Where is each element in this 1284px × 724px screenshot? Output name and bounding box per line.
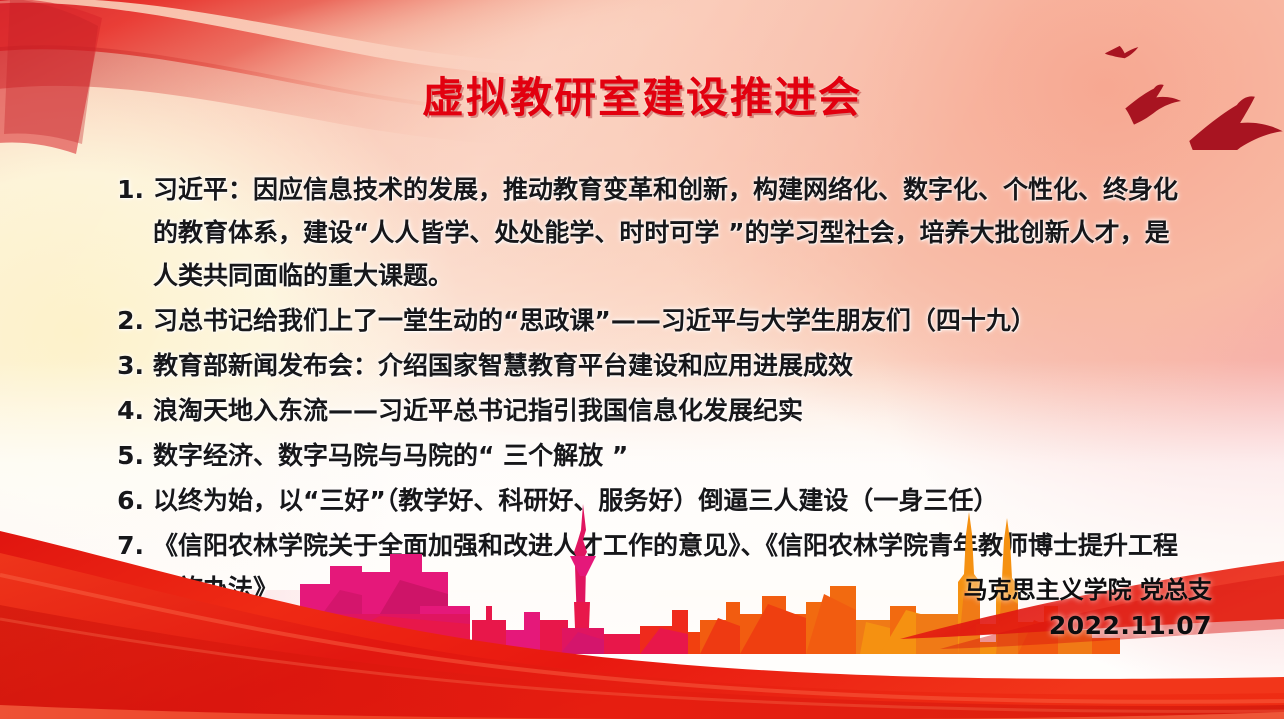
list-item-text: 浪淘天地入东流——习近平总书记指引我国信息化发展纪实: [153, 389, 1194, 432]
list-item-number: 1.: [104, 168, 153, 211]
list-item-text: 习总书记给我们上了一堂生动的“思政课”——习近平与大学生朋友们（四十九）: [153, 299, 1194, 342]
list-item: 2. 习总书记给我们上了一堂生动的“思政课”——习近平与大学生朋友们（四十九）: [104, 299, 1194, 342]
list-item-text: 数字经济、数字马院与马院的“ 三个解放 ”: [153, 434, 1194, 477]
list-item: 5. 数字经济、数字马院与马院的“ 三个解放 ”: [104, 434, 1194, 477]
list-item-number: 2.: [104, 299, 153, 342]
list-item: 1. 习近平：因应信息技术的发展，推动教育变革和创新，构建网络化、数字化、个性化…: [104, 168, 1194, 297]
list-item: 3. 教育部新闻发布会：介绍国家智慧教育平台建设和应用进展成效: [104, 344, 1194, 387]
list-item-text: 教育部新闻发布会：介绍国家智慧教育平台建设和应用进展成效: [153, 344, 1194, 387]
list-item-text: 习近平：因应信息技术的发展，推动教育变革和创新，构建网络化、数字化、个性化、终身…: [153, 168, 1194, 297]
list-item-number: 5.: [104, 434, 153, 477]
presentation-slide: 虚拟教研室建设推进会 1. 习近平：因应信息技术的发展，推动教育变革和创新，构建…: [0, 0, 1284, 724]
list-item: 4. 浪淘天地入东流——习近平总书记指引我国信息化发展纪实: [104, 389, 1194, 432]
bottom-white-edge: [0, 719, 1284, 724]
footer-date: 2022.11.07: [964, 611, 1212, 640]
list-item-number: 3.: [104, 344, 153, 387]
footer-signature: 马克思主义学院 党总支 2022.11.07: [964, 570, 1212, 640]
page-title: 虚拟教研室建设推进会: [0, 64, 1284, 125]
footer-organization: 马克思主义学院 党总支: [964, 570, 1212, 605]
list-item-number: 4.: [104, 389, 153, 432]
